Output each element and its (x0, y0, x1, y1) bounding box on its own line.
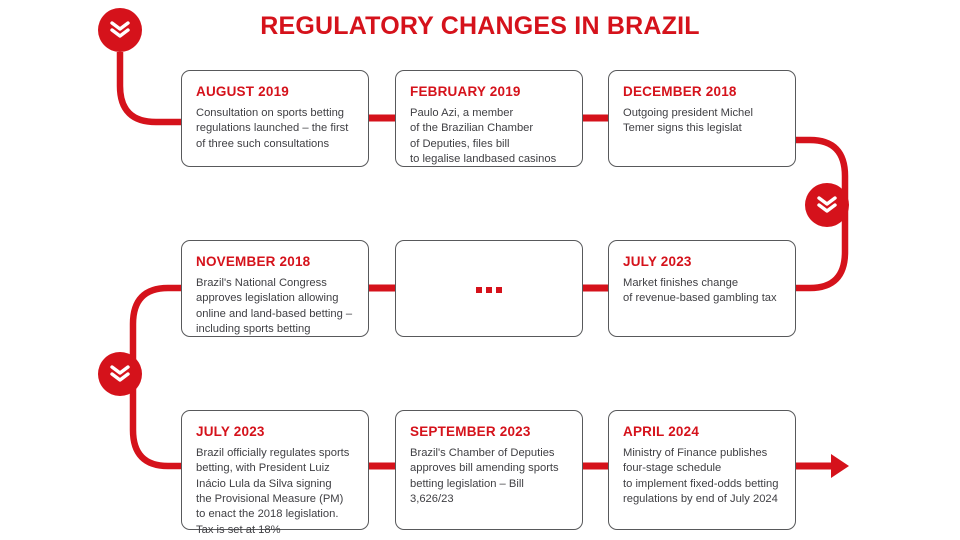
timeline-card[interactable]: SEPTEMBER 2023 Brazil's Chamber of Deput… (395, 410, 583, 530)
chevron-badge-right[interactable] (805, 183, 849, 227)
card-date: APRIL 2024 (623, 424, 781, 439)
card-body: Consultation on sports betting regulatio… (196, 106, 354, 152)
card-body: Brazil's National Congress approves legi… (196, 276, 354, 337)
ellipsis-icon (476, 287, 502, 293)
timeline-card[interactable]: JULY 2023 Brazil officially regulates sp… (181, 410, 369, 530)
card-body: Brazil officially regulates sports betti… (196, 446, 354, 538)
card-date: NOVEMBER 2018 (196, 254, 354, 269)
card-date: SEPTEMBER 2023 (410, 424, 568, 439)
timeline-card[interactable]: DECEMBER 2018 Outgoing president Michel … (608, 70, 796, 167)
card-date: FEBRUARY 2019 (410, 84, 568, 99)
card-date: AUGUST 2019 (196, 84, 354, 99)
timeline-card[interactable]: JULY 2023 Market finishes change of reve… (608, 240, 796, 337)
card-body: Paulo Azi, a member of the Brazilian Cha… (410, 106, 568, 167)
card-body: Outgoing president Michel Temer signs th… (623, 106, 781, 137)
timeline-card[interactable]: FEBRUARY 2019 Paulo Azi, a member of the… (395, 70, 583, 167)
infographic-canvas: REGULATORY CHANGES IN BRAZIL AUGUST 201 (0, 0, 960, 540)
timeline-card[interactable]: AUGUST 2019 Consultation on sports betti… (181, 70, 369, 167)
card-body: Ministry of Finance publishes four-stage… (623, 446, 781, 507)
page-title: REGULATORY CHANGES IN BRAZIL (0, 12, 960, 41)
entry-arc (120, 52, 181, 122)
card-date: JULY 2023 (623, 254, 781, 269)
card-body: Market finishes change of revenue-based … (623, 276, 781, 307)
timeline-card[interactable]: APRIL 2024 Ministry of Finance publishes… (608, 410, 796, 530)
card-date: DECEMBER 2018 (623, 84, 781, 99)
chevron-badge-top-left[interactable] (98, 8, 142, 52)
timeline-card[interactable]: NOVEMBER 2018 Brazil's National Congress… (181, 240, 369, 337)
card-body: Brazil's Chamber of Deputies approves bi… (410, 446, 568, 507)
timeline-card-placeholder[interactable] (395, 240, 583, 337)
chevron-badge-bottom-left[interactable] (98, 352, 142, 396)
double-chevron-down-icon (109, 20, 131, 40)
end-arrow-group (796, 454, 849, 478)
double-chevron-down-icon (816, 195, 838, 215)
arrow-right-icon (831, 454, 849, 478)
card-date: JULY 2023 (196, 424, 354, 439)
double-chevron-down-icon (109, 364, 131, 384)
